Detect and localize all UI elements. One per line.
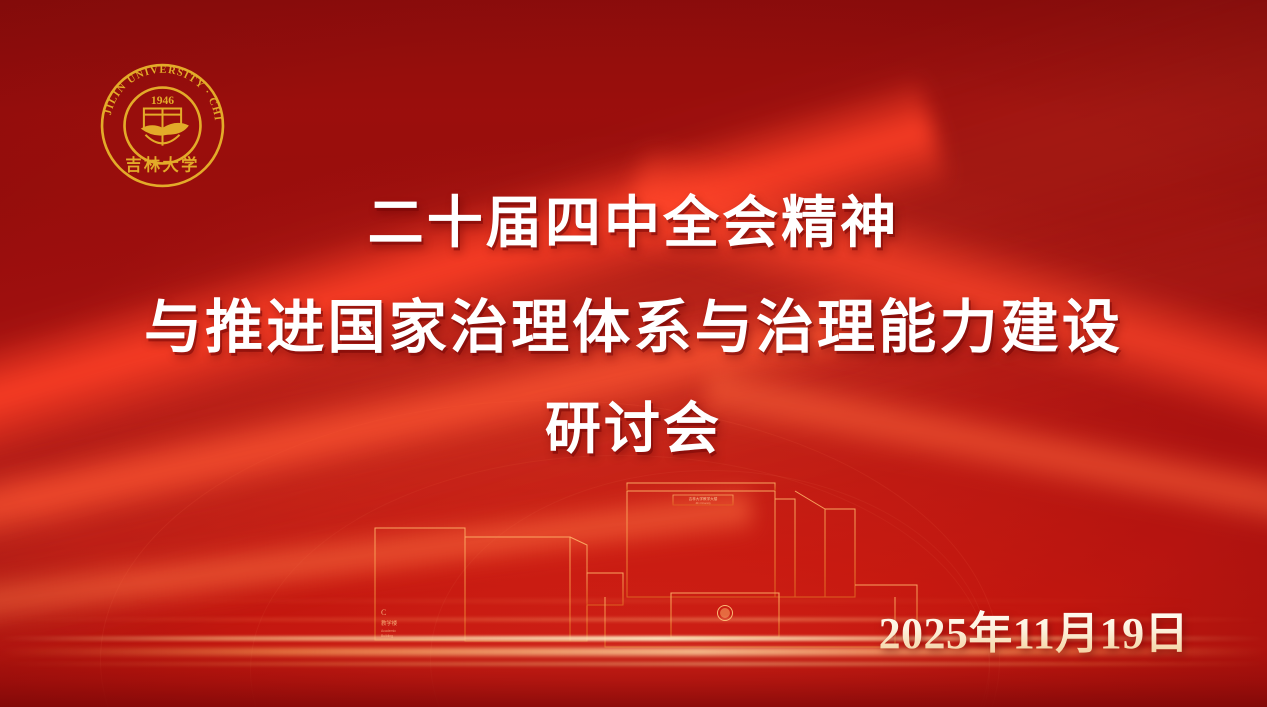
title-line-3: 研讨会	[0, 392, 1267, 466]
title-line-2: 与推进国家治理体系与治理能力建设	[0, 290, 1267, 366]
jilin-university-logo-icon: JILIN UNIVERSITY · CHINA 1946 吉林大学	[85, 48, 240, 203]
logo-outer-text: JILIN UNIVERSITY · CHINA	[85, 48, 223, 122]
title-line-1: 二十届四中全会精神	[0, 186, 1267, 260]
conference-backdrop-slide: 吉林大学教学大楼 Jilin University C 教学楼 Academic…	[0, 0, 1267, 707]
event-date: 2025年11月19日	[879, 608, 1189, 660]
logo-year: 1946	[151, 94, 174, 107]
slide-title-block: 二十届四中全会精神 与推进国家治理体系与治理能力建设 研讨会	[0, 186, 1267, 466]
logo-chinese-name: 吉林大学	[125, 155, 199, 174]
